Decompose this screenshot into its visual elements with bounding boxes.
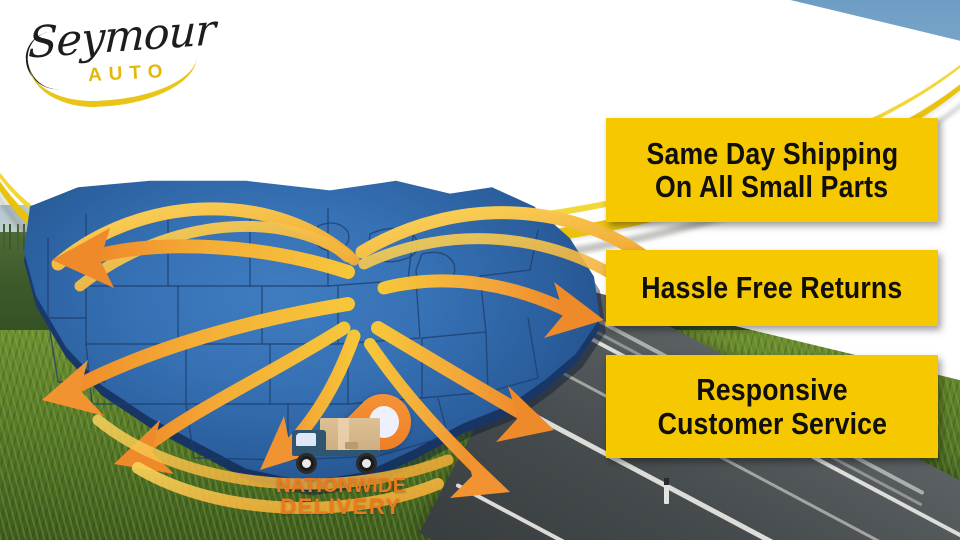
- truck-wheel: [296, 453, 317, 474]
- box-label: [345, 442, 358, 449]
- usa-map-graphic: NATIONWIDE DELIVERY: [18, 168, 638, 508]
- nationwide-text: NATIONWIDE: [276, 476, 406, 496]
- feature-banner-hassle-free-returns[interactable]: Hassle Free Returns: [606, 250, 938, 326]
- delivery-truck-icon: [290, 416, 382, 472]
- road-marker-post: [664, 478, 669, 504]
- delivery-text: DELIVERY: [276, 496, 406, 518]
- banner-3-line-1: Responsive: [696, 373, 847, 406]
- banner-1-line-1: Same Day Shipping: [646, 137, 898, 170]
- promo-banner: Seymour AUTO: [0, 0, 960, 540]
- delivery-route-arrows: [18, 168, 658, 528]
- banner-1-line-2: On All Small Parts: [655, 170, 888, 203]
- truck-window: [296, 433, 316, 446]
- brand-logo[interactable]: Seymour AUTO: [20, 8, 220, 103]
- brand-subtitle: AUTO: [87, 61, 170, 87]
- nationwide-delivery-label: NATIONWIDE DELIVERY: [276, 476, 406, 519]
- feature-banner-responsive-customer-service[interactable]: Responsive Customer Service: [606, 355, 938, 458]
- feature-banner-same-day-shipping[interactable]: Same Day Shipping On All Small Parts: [606, 118, 938, 222]
- truck-wheel: [356, 453, 377, 474]
- banner-3-line-2: Customer Service: [657, 407, 886, 440]
- banner-2-line-1: Hassle Free Returns: [641, 271, 902, 304]
